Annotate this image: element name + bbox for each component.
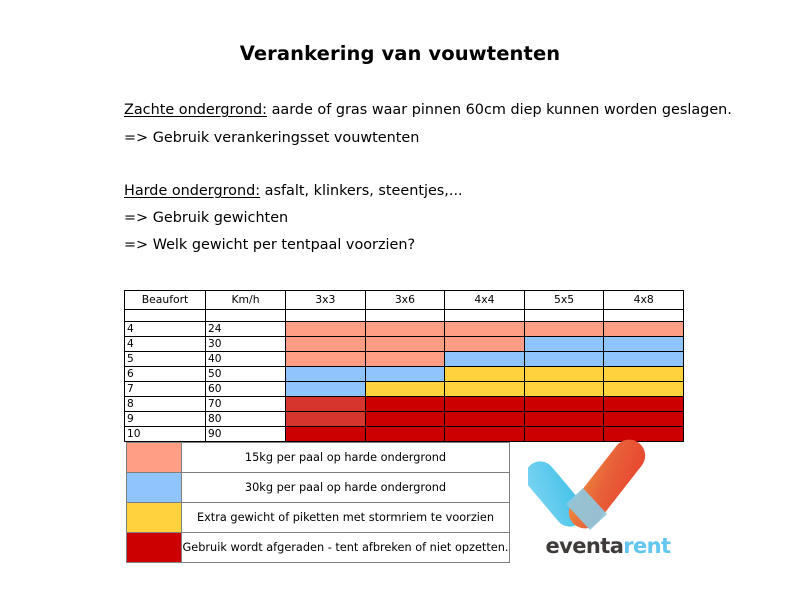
- table-row: 760: [125, 382, 684, 397]
- cell-4x8-salmon: [604, 322, 684, 337]
- legend-swatch-blue: [127, 473, 182, 503]
- cell-kmh: 40: [206, 352, 286, 367]
- matrix-spacer-cell: [365, 310, 445, 322]
- matrix-spacer-cell: [286, 310, 366, 322]
- soft-ground-line: Zachte ondergrond: aarde of gras waar pi…: [124, 103, 732, 117]
- cell-4x4-blue: [445, 352, 525, 367]
- cell-3x6-salmon: [365, 337, 445, 352]
- table-row: 540: [125, 352, 684, 367]
- cell-5x5-yellow: [524, 367, 604, 382]
- cell-3x3-salmon: [286, 337, 366, 352]
- matrix-body: 4244305406507608709801090: [125, 310, 684, 442]
- legend-label-red: Gebruik wordt afgeraden - tent afbreken …: [182, 533, 510, 563]
- matrix-spacer-cell: [125, 310, 206, 322]
- cell-3x6-red: [365, 397, 445, 412]
- cell-beaufort: 4: [125, 322, 206, 337]
- cell-4x4-yellow: [445, 367, 525, 382]
- column-header-4x8: 4x8: [604, 291, 684, 310]
- cell-3x6-yellow: [365, 382, 445, 397]
- hard-ground-question: => Welk gewicht per tentpaal voorzien?: [124, 238, 415, 252]
- cell-5x5-blue: [524, 337, 604, 352]
- cell-3x3-blue: [286, 382, 366, 397]
- cell-beaufort: 10: [125, 427, 206, 442]
- legend-row: 15kg per paal op harde ondergrond: [127, 443, 510, 473]
- table-row: 650: [125, 367, 684, 382]
- legend-row: Gebruik wordt afgeraden - tent afbreken …: [127, 533, 510, 563]
- cell-4x8-yellow: [604, 382, 684, 397]
- legend-swatch-salmon: [127, 443, 182, 473]
- cell-4x4-red: [445, 412, 525, 427]
- matrix-spacer-cell: [524, 310, 604, 322]
- cell-beaufort: 7: [125, 382, 206, 397]
- logo-orange-stroke: [562, 438, 651, 534]
- legend-label-salmon: 15kg per paal op harde ondergrond: [182, 443, 510, 473]
- cell-4x4-yellow: [445, 382, 525, 397]
- legend-row: Extra gewicht of piketten met stormriem …: [127, 503, 510, 533]
- soft-ground-description: aarde of gras waar pinnen 60cm diep kunn…: [267, 102, 732, 118]
- matrix-header-row: Beaufort Km/h 3x3 3x6 4x4 5x5 4x8: [125, 291, 684, 310]
- cell-3x6-red: [365, 412, 445, 427]
- eventarent-wordmark: eventarent: [528, 534, 688, 558]
- cell-4x8-red: [604, 397, 684, 412]
- cell-4x4-salmon: [445, 322, 525, 337]
- cell-3x6-salmon: [365, 352, 445, 367]
- wordmark-eventa: eventa: [546, 534, 624, 558]
- cell-4x8-yellow: [604, 367, 684, 382]
- cell-kmh: 60: [206, 382, 286, 397]
- cell-3x3-salmon: [286, 352, 366, 367]
- cell-5x5-yellow: [524, 382, 604, 397]
- table-row: 430: [125, 337, 684, 352]
- soft-ground-label: Zachte ondergrond:: [124, 102, 267, 118]
- cell-3x6-red: [365, 427, 445, 442]
- cell-3x6-blue: [365, 367, 445, 382]
- table-row: 980: [125, 412, 684, 427]
- legend-label-yellow: Extra gewicht of piketten met stormriem …: [182, 503, 510, 533]
- cell-beaufort: 4: [125, 337, 206, 352]
- table-row: 424: [125, 322, 684, 337]
- cell-kmh: 30: [206, 337, 286, 352]
- eventarent-checkmark-icon: [528, 438, 688, 534]
- cell-3x3-red-soft: [286, 412, 366, 427]
- column-header-3x6: 3x6: [365, 291, 445, 310]
- soft-ground-advice: => Gebruik verankeringsset vouwtenten: [124, 131, 419, 145]
- hard-ground-description: asfalt, klinkers, steentjes,...: [260, 183, 463, 199]
- slide-canvas: Verankering van vouwtenten Zachte onderg…: [0, 0, 800, 600]
- cell-4x8-blue: [604, 352, 684, 367]
- column-header-4x4: 4x4: [445, 291, 525, 310]
- cell-4x4-red: [445, 397, 525, 412]
- cell-kmh: 50: [206, 367, 286, 382]
- cell-beaufort: 8: [125, 397, 206, 412]
- table-row: 870: [125, 397, 684, 412]
- wordmark-rent: rent: [623, 534, 670, 558]
- legend-table: 15kg per paal op harde ondergrond30kg pe…: [126, 442, 510, 563]
- eventarent-logo: eventarent: [528, 438, 688, 568]
- legend-row: 30kg per paal op harde ondergrond: [127, 473, 510, 503]
- matrix-spacer-cell: [445, 310, 525, 322]
- cell-4x8-red: [604, 412, 684, 427]
- cell-3x3-salmon: [286, 322, 366, 337]
- cell-4x4-salmon: [445, 337, 525, 352]
- cell-kmh: 24: [206, 322, 286, 337]
- wind-weight-matrix: Beaufort Km/h 3x3 3x6 4x4 5x5 4x8 424430…: [124, 290, 684, 442]
- cell-kmh: 70: [206, 397, 286, 412]
- cell-3x6-salmon: [365, 322, 445, 337]
- cell-5x5-red: [524, 412, 604, 427]
- cell-3x3-blue: [286, 367, 366, 382]
- cell-kmh: 80: [206, 412, 286, 427]
- cell-5x5-salmon: [524, 322, 604, 337]
- legend-label-blue: 30kg per paal op harde ondergrond: [182, 473, 510, 503]
- column-header-beaufort: Beaufort: [125, 291, 206, 310]
- cell-beaufort: 5: [125, 352, 206, 367]
- matrix-spacer-cell: [604, 310, 684, 322]
- hard-ground-advice: => Gebruik gewichten: [124, 211, 288, 225]
- matrix-spacer-cell: [206, 310, 286, 322]
- cell-3x3-red-soft: [286, 397, 366, 412]
- matrix-header: Beaufort Km/h 3x3 3x6 4x4 5x5 4x8: [125, 291, 684, 310]
- legend-body: 15kg per paal op harde ondergrond30kg pe…: [127, 443, 510, 563]
- column-header-5x5: 5x5: [524, 291, 604, 310]
- cell-kmh: 90: [206, 427, 286, 442]
- cell-4x4-red: [445, 427, 525, 442]
- legend-swatch-yellow: [127, 503, 182, 533]
- cell-5x5-blue: [524, 352, 604, 367]
- legend-swatch-red: [127, 533, 182, 563]
- column-header-3x3: 3x3: [286, 291, 366, 310]
- cell-4x8-blue: [604, 337, 684, 352]
- cell-3x3-red: [286, 427, 366, 442]
- matrix-spacer-row: [125, 310, 684, 322]
- cell-beaufort: 6: [125, 367, 206, 382]
- column-header-kmh: Km/h: [206, 291, 286, 310]
- hard-ground-label: Harde ondergrond:: [124, 183, 260, 199]
- page-title: Verankering van vouwtenten: [0, 42, 800, 65]
- cell-beaufort: 9: [125, 412, 206, 427]
- hard-ground-line: Harde ondergrond: asfalt, klinkers, stee…: [124, 184, 463, 198]
- cell-5x5-red: [524, 397, 604, 412]
